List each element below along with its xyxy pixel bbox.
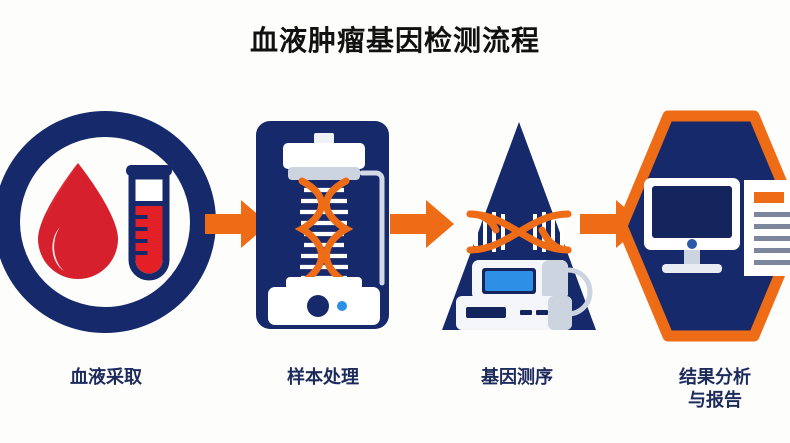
blood-drop-icon xyxy=(38,163,118,279)
page-title: 血液肿瘤基因检测流程 xyxy=(0,24,790,58)
result-analysis-icon-group xyxy=(614,110,790,342)
sample-processing-icon-group xyxy=(250,115,395,335)
stage-blood-collection[interactable] xyxy=(0,115,210,330)
infographic-canvas: 血液肿瘤基因检测流程 血液采取 xyxy=(0,0,790,443)
stage-label-result-analysis: 结果分析 与报告 xyxy=(640,366,790,412)
stage-label-sample-processing: 样本处理 xyxy=(248,366,398,389)
stage-sample-processing[interactable] xyxy=(250,115,395,335)
test-tube-icon xyxy=(126,165,172,277)
stage-gene-sequencing[interactable] xyxy=(438,118,600,336)
stage-label-gene-sequencing: 基因测序 xyxy=(432,366,602,389)
report-document-icon xyxy=(744,180,790,276)
blood-collection-icon-group xyxy=(0,115,210,330)
stage-label-blood-collection: 血液采取 xyxy=(0,366,212,389)
gene-sequencing-icon-group xyxy=(438,118,600,336)
stage-result-analysis[interactable] xyxy=(614,110,790,342)
